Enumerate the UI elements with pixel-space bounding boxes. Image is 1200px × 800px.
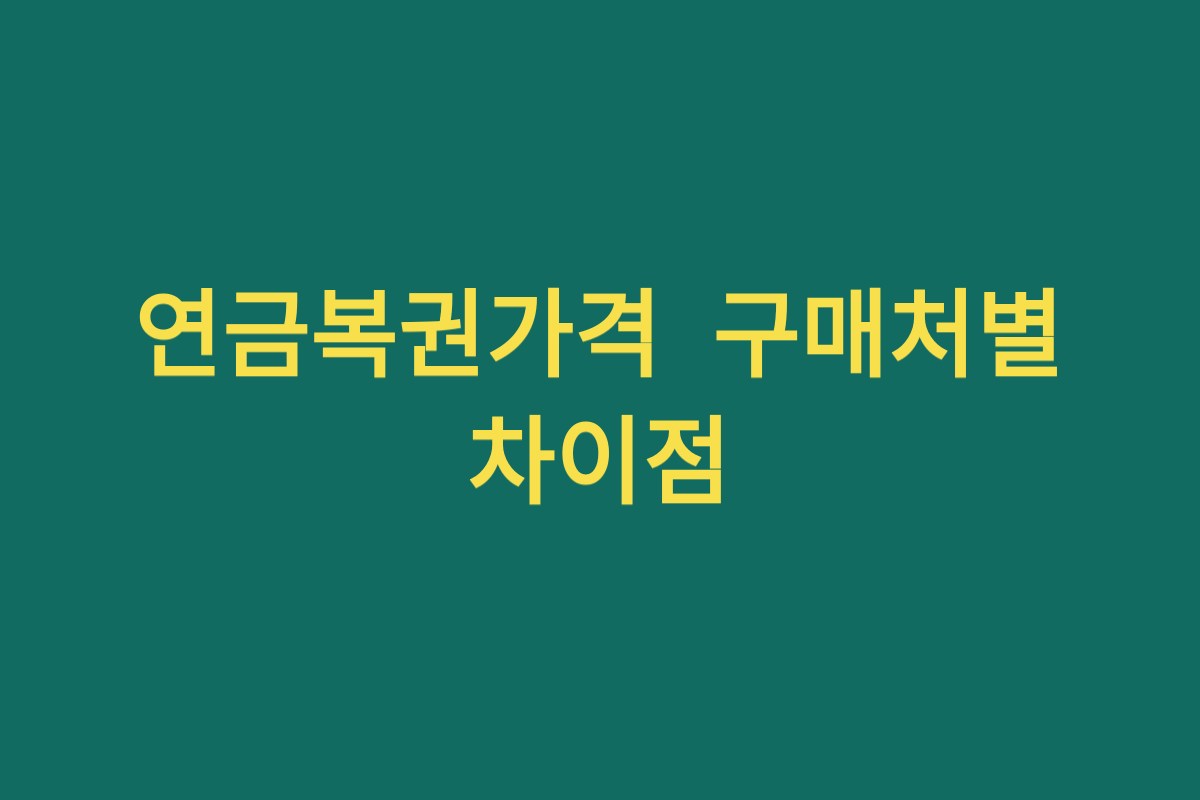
page-title: 연금복권가격 구매처별 차이점: [70, 273, 1130, 528]
page-title-line-2: 차이점: [70, 400, 1130, 527]
banner-canvas: 연금복권가격 구매처별 차이점: [0, 0, 1200, 800]
page-title-line-1: 연금복권가격 구매처별: [70, 273, 1130, 400]
